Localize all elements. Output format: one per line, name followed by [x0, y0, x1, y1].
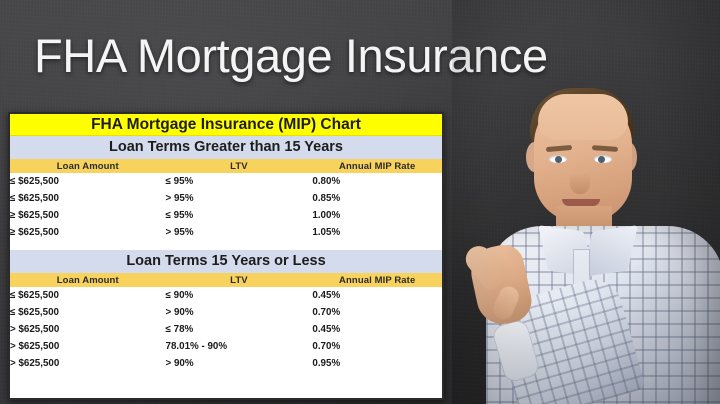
table-row: ≤ $625,500 ≤ 90% 0.45%: [10, 287, 442, 304]
video-thumbnail: FHA Mortgage Insurance FHA Mortgage Insu…: [0, 0, 720, 404]
presenter-photo: [452, 0, 720, 404]
cell-loan-amount: ≤ $625,500: [10, 190, 166, 207]
cell-ltv: > 90%: [166, 355, 313, 372]
cell-mip-rate: 0.80%: [312, 173, 442, 190]
cell-mip-rate: 0.70%: [312, 338, 442, 355]
cell-mip-rate: 0.45%: [312, 287, 442, 304]
section-divider: [10, 241, 442, 250]
column-header-ltv: LTV: [166, 273, 313, 287]
table-row: > $625,500 > 90% 0.95%: [10, 355, 442, 372]
section-subtitle-long-terms: Loan Terms Greater than 15 Years: [10, 136, 442, 159]
cell-loan-amount: ≤ $625,500: [10, 173, 166, 190]
cell-ltv: ≤ 95%: [166, 207, 313, 224]
cell-mip-rate: 0.45%: [312, 321, 442, 338]
table-row: ≤ $625,500 ≤ 95% 0.80%: [10, 173, 442, 190]
cell-loan-amount: > $625,500: [10, 338, 166, 355]
cell-mip-rate: 0.70%: [312, 304, 442, 321]
column-header-ltv: LTV: [166, 159, 313, 173]
table-row: ≥ $625,500 > 95% 1.05%: [10, 224, 442, 241]
cell-mip-rate: 0.85%: [312, 190, 442, 207]
cell-loan-amount: ≥ $625,500: [10, 224, 166, 241]
cell-ltv: 78.01% - 90%: [166, 338, 313, 355]
cell-ltv: ≤ 95%: [166, 173, 313, 190]
cell-loan-amount: ≤ $625,500: [10, 304, 166, 321]
table-row: > $625,500 78.01% - 90% 0.70%: [10, 338, 442, 355]
chart-title: FHA Mortgage Insurance (MIP) Chart: [10, 114, 442, 136]
cell-loan-amount: ≥ $625,500: [10, 207, 166, 224]
table-row: > $625,500 ≤ 78% 0.45%: [10, 321, 442, 338]
table-header-row: Loan Amount LTV Annual MIP Rate: [10, 159, 442, 173]
cell-ltv: > 95%: [166, 190, 313, 207]
photo-vignette: [452, 0, 720, 404]
cell-ltv: > 90%: [166, 304, 313, 321]
mip-table-short-terms: Loan Amount LTV Annual MIP Rate ≤ $625,5…: [10, 273, 442, 372]
column-header-loan-amount: Loan Amount: [10, 159, 166, 173]
cell-mip-rate: 0.95%: [312, 355, 442, 372]
cell-ltv: ≤ 90%: [166, 287, 313, 304]
mip-chart-card: FHA Mortgage Insurance (MIP) Chart Loan …: [8, 112, 444, 400]
section-subtitle-short-terms: Loan Terms 15 Years or Less: [10, 250, 442, 273]
cell-ltv: > 95%: [166, 224, 313, 241]
table-row: ≤ $625,500 > 90% 0.70%: [10, 304, 442, 321]
table-row: ≥ $625,500 ≤ 95% 1.00%: [10, 207, 442, 224]
cell-mip-rate: 1.00%: [312, 207, 442, 224]
cell-ltv: ≤ 78%: [166, 321, 313, 338]
table-header-row: Loan Amount LTV Annual MIP Rate: [10, 273, 442, 287]
cell-loan-amount: > $625,500: [10, 321, 166, 338]
cell-loan-amount: > $625,500: [10, 355, 166, 372]
mip-table-long-terms: Loan Amount LTV Annual MIP Rate ≤ $625,5…: [10, 159, 442, 241]
column-header-annual-mip-rate: Annual MIP Rate: [312, 273, 442, 287]
cell-mip-rate: 1.05%: [312, 224, 442, 241]
cell-loan-amount: ≤ $625,500: [10, 287, 166, 304]
column-header-annual-mip-rate: Annual MIP Rate: [312, 159, 442, 173]
table-row: ≤ $625,500 > 95% 0.85%: [10, 190, 442, 207]
column-header-loan-amount: Loan Amount: [10, 273, 166, 287]
